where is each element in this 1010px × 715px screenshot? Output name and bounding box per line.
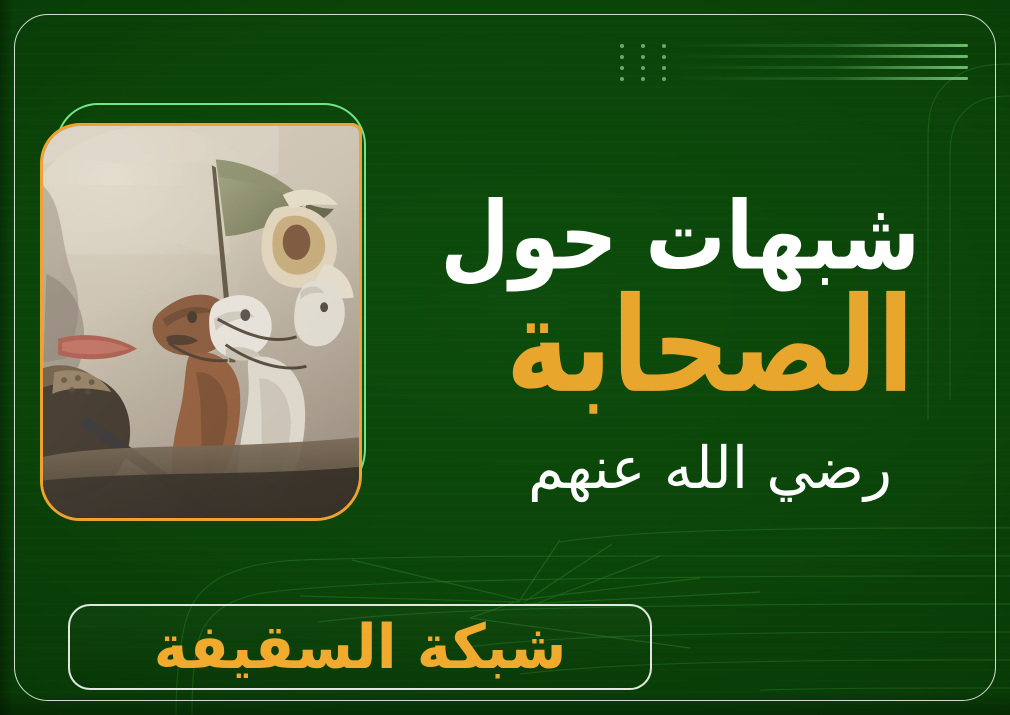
left-edge-shade — [0, 0, 14, 715]
poster-canvas: شبهات حول الصحابة رضي الله عنهم شبكة الس… — [0, 0, 1010, 715]
speed-lines-icon — [668, 43, 968, 87]
site-name-banner: شبكة السقيفة — [68, 604, 652, 690]
page-subtitle: رضي الله عنهم — [500, 438, 920, 499]
page-title-line2: الصحابة — [480, 286, 940, 407]
site-name-label: شبكة السقيفة — [154, 611, 567, 683]
photo-block — [38, 103, 368, 523]
page-title-line1: شبهات حول — [500, 192, 920, 282]
photo-orange-outline — [40, 123, 362, 521]
bottom-edge-shade — [0, 693, 1010, 715]
battle-painting-image — [43, 126, 359, 518]
